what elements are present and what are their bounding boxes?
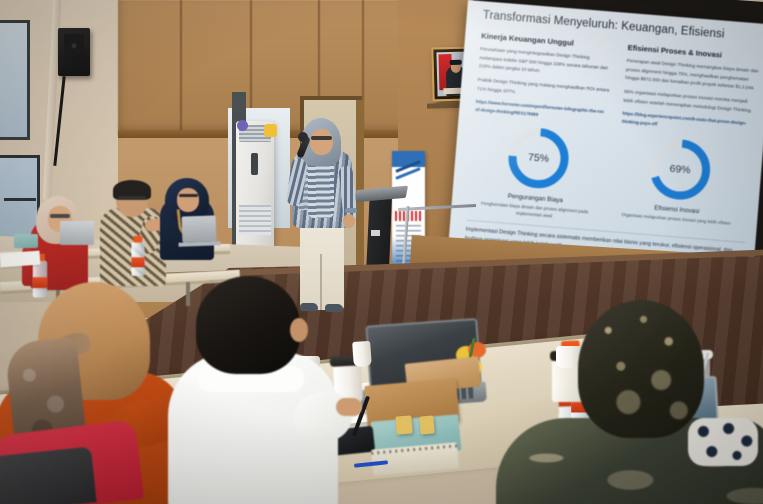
presenter-hand (343, 214, 355, 228)
glasses-icon (118, 196, 146, 200)
donut-percent-label: 75% (503, 122, 574, 193)
lectern-plate (371, 230, 380, 236)
donut-chart-cost: 75% Pengurangan Biaya Penghematan biaya … (464, 120, 611, 224)
column-paragraph: Perusahaan yang mengintegrasikan Design … (478, 45, 613, 82)
back-laptop (182, 215, 217, 242)
glasses-icon (311, 136, 332, 140)
table-leg (186, 282, 190, 306)
donut-percent-label: 69% (645, 134, 716, 205)
food-item (395, 415, 413, 434)
water-bottle (33, 260, 47, 297)
polka-dot-fabric (688, 418, 758, 466)
window-upper-left (0, 20, 30, 140)
chair-backrest[interactable] (0, 446, 97, 504)
ac-sticker-purple-icon (237, 120, 248, 131)
presenter-shoe (300, 303, 318, 311)
water-bottle (131, 242, 144, 276)
slide-column-finance: Kinerja Keuangan Unggul Perusahaan yang … (475, 31, 614, 124)
paper-sheet (0, 251, 40, 268)
food-item (419, 415, 435, 434)
air-conditioner (236, 121, 274, 251)
person-white-shirt-hand (336, 398, 362, 416)
room-photo-scene: Transformasi Menyeluruh: Keuangan, Efisi… (0, 0, 763, 504)
presenter-watch-icon (345, 208, 357, 213)
glasses-icon (179, 194, 198, 197)
donut-graphic: 75% (503, 122, 574, 193)
column-paragraph: Penerapan awal Design Thinking memangkas… (625, 57, 760, 94)
teal-container (14, 234, 38, 248)
microphone-head-icon (298, 132, 308, 142)
paper-cup (352, 341, 372, 367)
donut-chart-row: 75% Pengurangan Biaya Penghematan biaya … (463, 119, 754, 235)
slide-column-efficiency: Efisiensi Proses & Inovasi Penerapan awa… (621, 43, 760, 136)
back-laptop (60, 221, 94, 245)
ac-sticker-yellow-icon (264, 124, 277, 137)
donut-graphic: 69% (645, 134, 716, 205)
ear (290, 318, 308, 342)
donut-chart-innovation: 69% Efisiensi Inovasi Organisasi melapor… (606, 131, 753, 235)
wall-speaker-icon (58, 28, 90, 76)
person-patterned-hijab-head (578, 300, 704, 438)
person-head-dark-hair (196, 276, 300, 374)
presenter-shoe (325, 304, 343, 312)
slide-columns: Kinerja Keuangan Unggul Perusahaan yang … (475, 31, 761, 136)
presenter-face (310, 129, 333, 155)
glasses-icon (50, 214, 70, 218)
